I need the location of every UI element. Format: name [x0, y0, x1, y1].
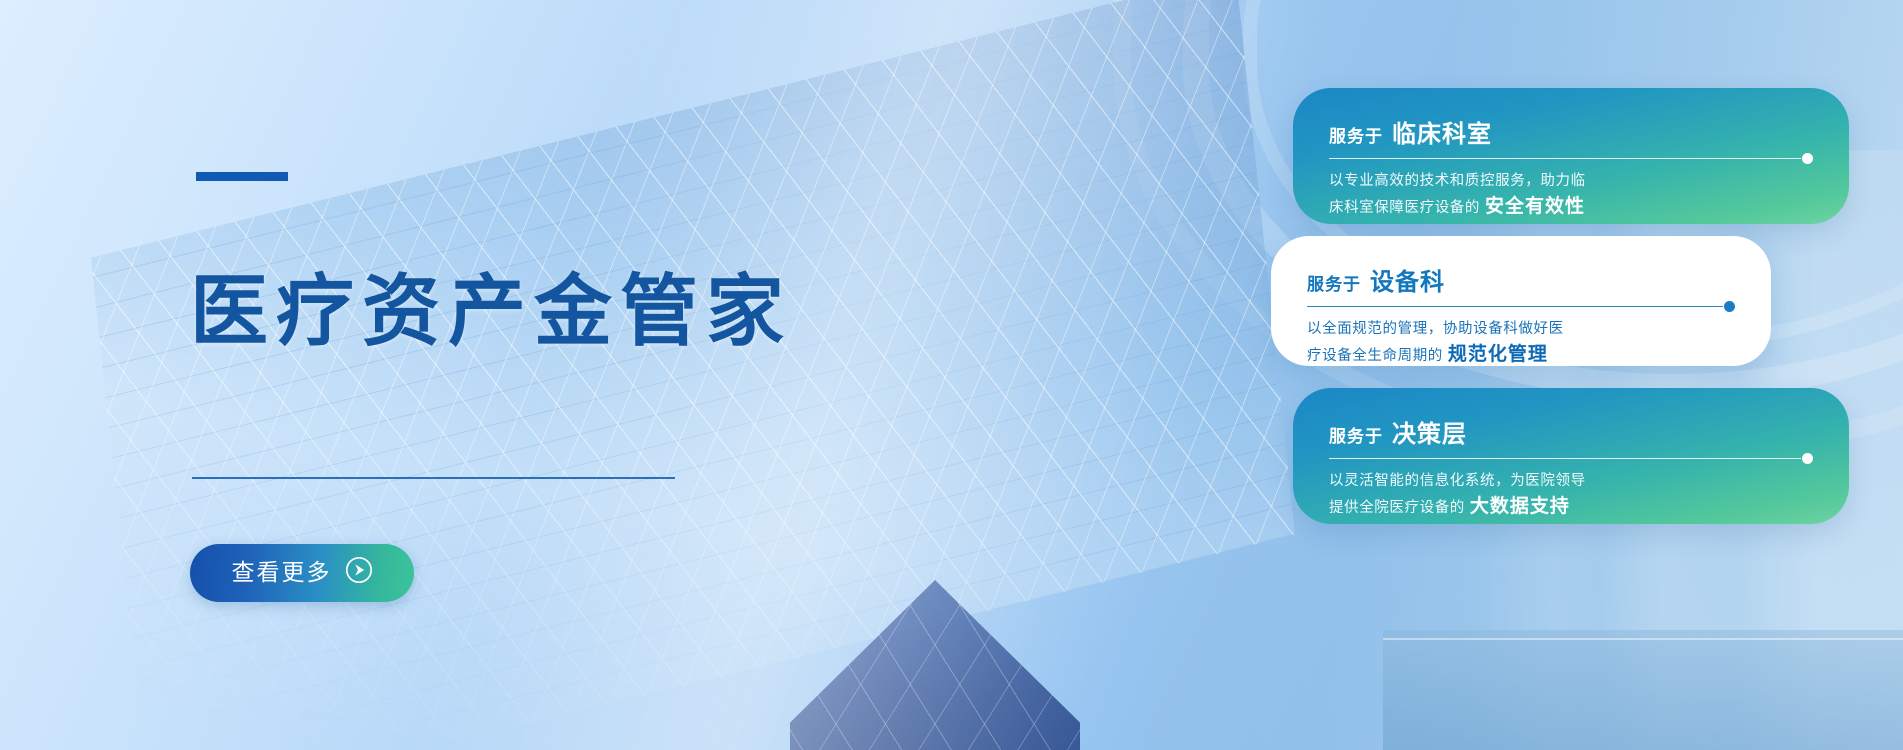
card-body-line1: 以灵活智能的信息化系统，为医院领导: [1329, 473, 1586, 489]
card-body: 以灵活智能的信息化系统，为医院领导 提供全院医疗设备的大数据支持: [1329, 468, 1639, 521]
card-header: 服务于 设备科: [1307, 262, 1735, 297]
service-card-decision-makers[interactable]: 服务于 决策层 以灵活智能的信息化系统，为医院领导 提供全院医疗设备的大数据支持: [1293, 388, 1849, 524]
accent-bar: [196, 172, 288, 181]
card-body-line1: 以专业高效的技术和质控服务，助力临: [1329, 173, 1586, 189]
circled-arrow-right-icon: [345, 556, 373, 590]
card-rule-line: [1329, 458, 1801, 459]
card-body: 以全面规范的管理，协助设备科做好医 疗设备全生命周期的规范化管理: [1307, 316, 1617, 369]
card-body-line2: 床科室保障医疗设备的: [1329, 200, 1480, 216]
card-emphasis: 安全有效性: [1485, 196, 1585, 217]
card-body-line2: 提供全院医疗设备的: [1329, 500, 1465, 516]
card-header: 服务于 临床科室: [1329, 114, 1813, 149]
card-rule-dot-icon: [1802, 153, 1813, 164]
card-department: 决策层: [1392, 414, 1467, 449]
card-rule-line: [1329, 158, 1801, 159]
card-header: 服务于 决策层: [1329, 414, 1813, 449]
card-emphasis: 大数据支持: [1470, 496, 1570, 517]
card-rule-dot-icon: [1802, 453, 1813, 464]
card-body-line1: 以全面规范的管理，协助设备科做好医: [1307, 321, 1564, 337]
hero-divider: [192, 477, 675, 479]
page-title: 医疗资产金管家: [190, 268, 792, 355]
card-department: 临床科室: [1392, 114, 1492, 149]
card-emphasis: 规范化管理: [1448, 344, 1548, 365]
card-rule: [1329, 158, 1813, 159]
service-card-clinical[interactable]: 服务于 临床科室 以专业高效的技术和质控服务，助力临 床科室保障医疗设备的安全有…: [1293, 88, 1849, 224]
card-prefix: 服务于: [1329, 122, 1383, 147]
service-card-equipment-dept[interactable]: 服务于 设备科 以全面规范的管理，协助设备科做好医 疗设备全生命周期的规范化管理: [1271, 236, 1771, 366]
service-card-list: 服务于 临床科室 以专业高效的技术和质控服务，助力临 床科室保障医疗设备的安全有…: [1103, 0, 1903, 750]
card-department: 设备科: [1370, 262, 1445, 297]
card-body: 以专业高效的技术和质控服务，助力临 床科室保障医疗设备的安全有效性: [1329, 168, 1639, 221]
card-body-line2: 疗设备全生命周期的: [1307, 348, 1443, 364]
card-rule-line: [1307, 306, 1723, 307]
card-prefix: 服务于: [1307, 270, 1361, 295]
hero-banner: 医疗资产金管家 查看更多 服务于 临床科室 以专业: [0, 0, 1903, 750]
card-rule: [1329, 458, 1813, 459]
card-prefix: 服务于: [1329, 422, 1383, 447]
view-more-button[interactable]: 查看更多: [190, 544, 414, 602]
view-more-label: 查看更多: [232, 561, 332, 584]
hero-text-pane: 医疗资产金管家 查看更多: [0, 0, 760, 750]
card-rule-dot-icon: [1724, 301, 1735, 312]
card-rule: [1307, 306, 1735, 307]
